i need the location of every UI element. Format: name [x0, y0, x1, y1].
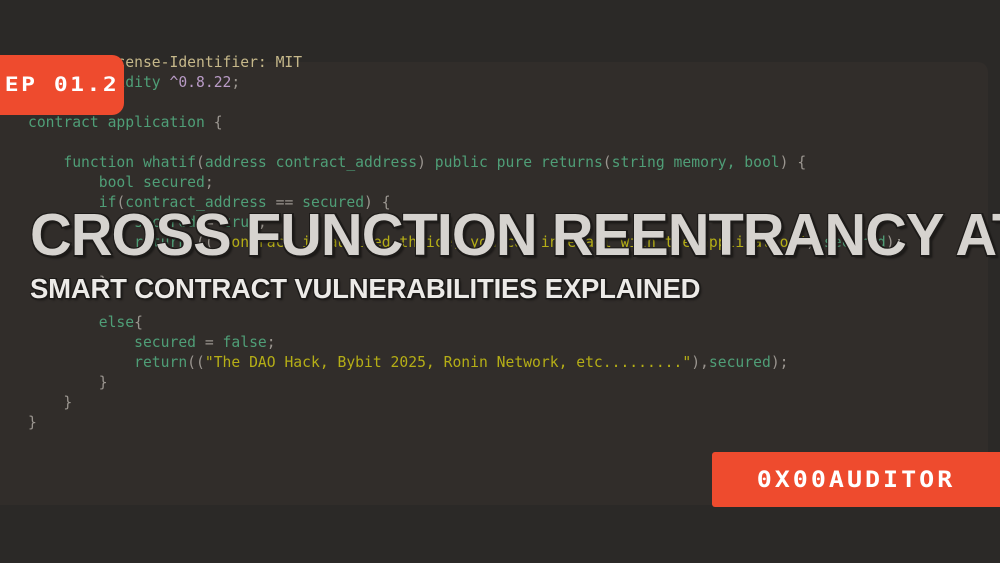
code-token: ^0.8.22	[169, 74, 231, 91]
code-line: bool secured;	[0, 173, 1000, 193]
code-token: }	[28, 374, 108, 391]
code-token: ;	[231, 74, 240, 91]
code-token: else	[28, 314, 134, 331]
code-token: "The DAO Hack, Bybit 2025, Ronin Network…	[205, 354, 691, 371]
code-token: )	[780, 154, 798, 171]
code-token: secured	[28, 334, 196, 351]
page-title: CROSS FUNCTION REENTRANCY ATTACK	[30, 205, 1000, 265]
code-token: {	[214, 114, 223, 131]
code-line: }	[0, 393, 1000, 413]
code-line: pragma solidity ^0.8.22;	[0, 73, 1000, 93]
code-token: return	[28, 354, 187, 371]
code-line: }	[0, 373, 1000, 393]
code-line	[0, 93, 1000, 113]
code-token: }	[28, 414, 37, 431]
headline-group: CROSS FUNCTION REENTRANCY ATTACK SMART C…	[30, 205, 1000, 304]
code-line	[0, 133, 1000, 153]
code-token: {	[797, 154, 806, 171]
code-token: }	[28, 394, 72, 411]
code-line: function whatif(address contract_address…	[0, 153, 1000, 173]
code-token: =	[196, 334, 223, 351]
code-token: ;	[267, 334, 276, 351]
episode-badge: EP 01.2	[0, 55, 124, 115]
code-token: public pure returns	[435, 154, 603, 171]
code-line: secured = false;	[0, 333, 1000, 353]
code-token: {	[134, 314, 143, 331]
code-token: (	[196, 154, 205, 171]
episode-badge-label: EP 01.2	[5, 74, 119, 96]
code-token: bool secured	[28, 174, 205, 191]
code-token: string memory, bool	[612, 154, 780, 171]
code-token: function whatif	[28, 154, 196, 171]
code-token: address contract_address	[205, 154, 417, 171]
code-token: ((	[187, 354, 205, 371]
code-token: contract application	[28, 114, 214, 131]
code-token: false	[223, 334, 267, 351]
code-token: secured	[709, 354, 771, 371]
code-line: else{	[0, 313, 1000, 333]
code-token: ),	[691, 354, 709, 371]
page-subtitle: SMART CONTRACT VULNERABILITIES EXPLAINED	[30, 274, 1000, 304]
code-line: }	[0, 413, 1000, 433]
code-token: ;	[205, 174, 214, 191]
brand-badge-label: 0X00AUDITOR	[757, 466, 956, 492]
code-token: (	[603, 154, 612, 171]
code-line: // SPDX-License-Identifier: MIT	[0, 53, 1000, 73]
brand-badge: 0X00AUDITOR	[712, 452, 1000, 507]
code-token: );	[771, 354, 789, 371]
code-line: return(("The DAO Hack, Bybit 2025, Ronin…	[0, 353, 1000, 373]
code-line: contract application {	[0, 113, 1000, 133]
code-token: )	[417, 154, 435, 171]
slide-canvas: // SPDX-License-Identifier: MITpragma so…	[0, 0, 1000, 563]
